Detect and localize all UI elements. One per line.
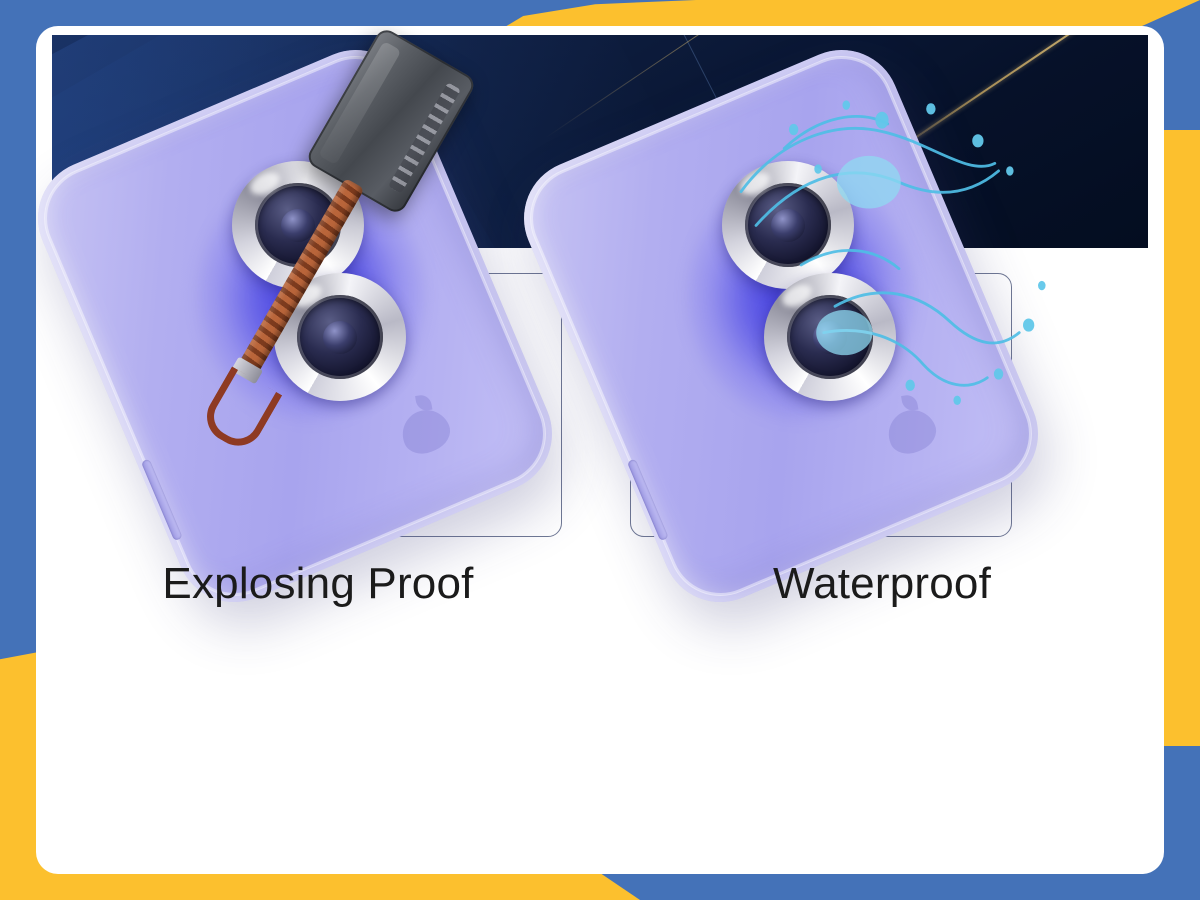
content-card: Explosing Proof: [36, 26, 1164, 874]
camera-lens-ring-top: [722, 161, 854, 289]
feature-panels: Explosing Proof: [36, 26, 1164, 874]
feature-panel-waterproof: Waterproof: [600, 26, 1164, 874]
camera-lens-ring-bottom: [764, 273, 896, 401]
panel-caption-explosion-proof: Explosing Proof: [36, 562, 600, 606]
feature-panel-explosion-proof: Explosing Proof: [36, 26, 600, 874]
panel-caption-waterproof: Waterproof: [600, 562, 1164, 606]
product-image-explosion-proof: [36, 35, 600, 555]
product-image-waterproof: [600, 35, 1164, 555]
